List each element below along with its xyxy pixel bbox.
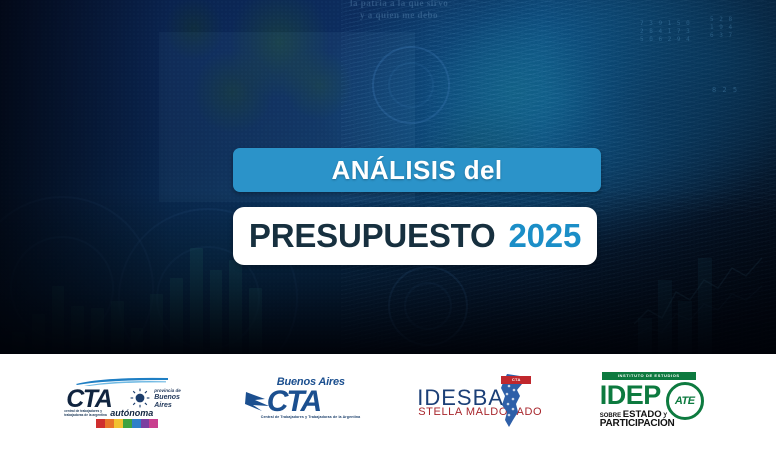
title-banner-secondary: PRESUPUESTO 2025 xyxy=(233,207,597,265)
cta-color-bar-icon xyxy=(96,419,158,428)
idep-top-label: INSTITUTO DE ESTUDIOS xyxy=(602,372,696,380)
idesba-flag-label: CTA xyxy=(501,376,531,384)
logo-cta-buenos-aires[interactable]: Buenos Aires CTA Central de Trabajadores… xyxy=(243,374,363,430)
cta-province-small: provincia de xyxy=(154,388,181,393)
banknote-digits-block-3: 8 2 5 xyxy=(712,86,738,94)
idep-acronym: IDEP xyxy=(600,380,661,411)
banknote-text-line-1: la patria a la que sirvo xyxy=(350,0,448,8)
idesba-flag-text: CTA xyxy=(501,376,531,384)
logo-idep-ate[interactable]: INSTITUTO DE ESTUDIOS IDEP ATE SOBRE EST… xyxy=(596,372,716,432)
banknote-text-line-2: y a quien me debo xyxy=(360,10,438,20)
title-year: 2025 xyxy=(508,217,581,255)
logo-cta-autonoma[interactable]: CTA provincia de Buenos Aires autónoma c… xyxy=(60,371,190,433)
banknote-digits-block-1: 7 3 9 1 5 0 2 8 4 1 7 3 5 0 6 2 9 4 xyxy=(640,20,691,44)
title-banner-primary: ANÁLISIS del xyxy=(233,148,601,192)
cta-ba-acronym: CTA xyxy=(267,385,320,419)
logo-idesba[interactable]: IDESBA STELLA MALDONADO CTA xyxy=(415,373,543,431)
banknote-digits-block-2: 5 2 8 1 9 4 6 3 7 xyxy=(710,16,733,40)
cta-ba-tagline: Central de Trabajadores y Trabajadoras d… xyxy=(261,415,361,419)
cta-tagline: central de trabajadores y trabajadoras d… xyxy=(64,409,110,417)
cta-province-block: provincia de Buenos Aires xyxy=(154,388,190,410)
title-line-1: ANÁLISIS del xyxy=(332,155,503,186)
poster: la patria a la que sirvo y a quien me de… xyxy=(0,0,776,449)
footer-logo-strip: CTA provincia de Buenos Aires autónoma c… xyxy=(0,354,776,449)
ate-badge-label: ATE xyxy=(675,395,695,407)
idep-top-banner: INSTITUTO DE ESTUDIOS xyxy=(602,372,696,380)
ate-badge-icon: ATE xyxy=(666,382,704,420)
idep-word-participacion: PARTICIPACIÓN xyxy=(600,418,675,429)
cta-province-name: Buenos Aires xyxy=(154,394,190,410)
cta-sun-gear-icon xyxy=(130,388,150,408)
title-line-2: PRESUPUESTO xyxy=(249,217,496,255)
cta-word-autonoma: autónoma xyxy=(110,408,153,418)
